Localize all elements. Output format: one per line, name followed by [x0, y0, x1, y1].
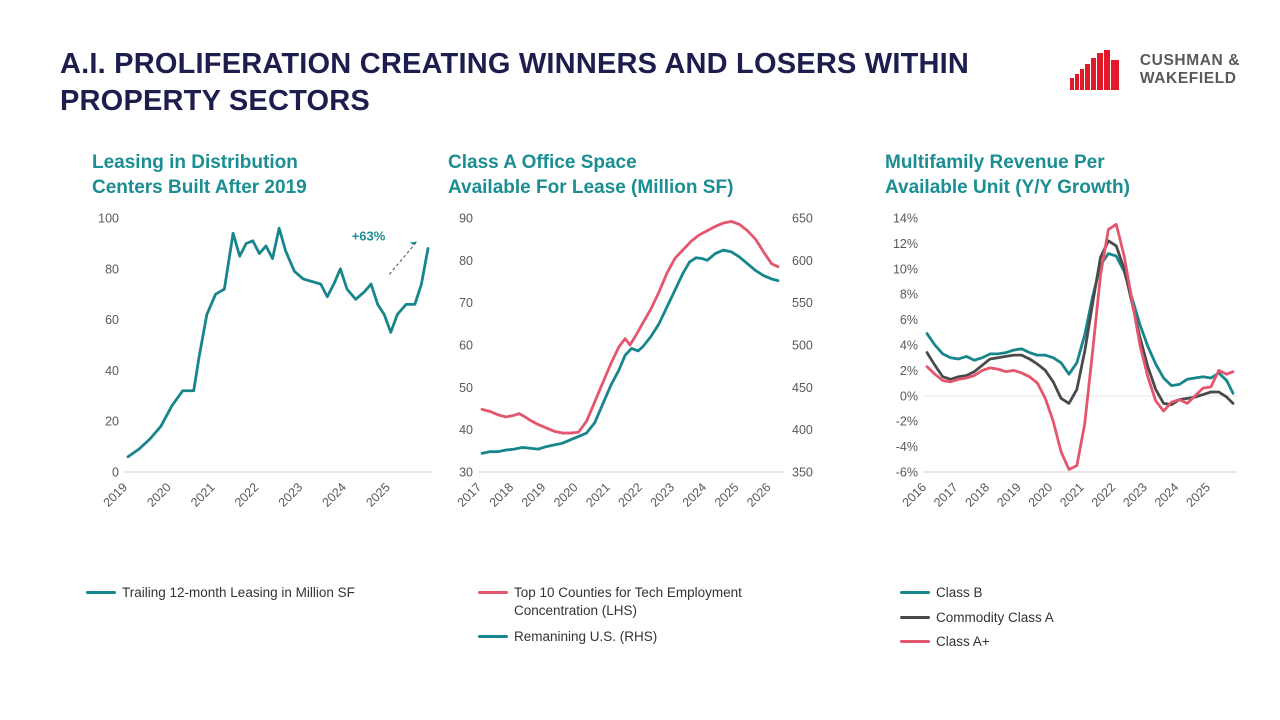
- x-tick-label: 2017: [455, 480, 485, 510]
- legend-color-swatch: [900, 640, 930, 643]
- y-tick-label: 40: [459, 423, 473, 437]
- x-tick-label: 2020: [1026, 480, 1056, 510]
- y2-tick-label: 650: [792, 212, 813, 226]
- x-tick-label: 2024: [320, 480, 350, 510]
- x-tick-label: 2022: [615, 480, 645, 510]
- y-tick-label: 60: [459, 339, 473, 353]
- page-title: A.I. Proliferation Creating Winners and …: [60, 46, 1010, 120]
- y-tick-label: 100: [98, 212, 119, 226]
- chart-panel-leasing-distribution-centers: Leasing in Distribution Centers Built Af…: [0, 150, 410, 540]
- x-tick-label: 2023: [1120, 480, 1150, 510]
- x-tick-label: 2024: [1152, 480, 1182, 510]
- y-tick-label: 4%: [900, 339, 918, 353]
- chart-legend-3: Class B Commodity Class A Class A+: [900, 584, 1054, 658]
- x-tick-label: 2018: [963, 480, 993, 510]
- x-tick-label: 2022: [1089, 480, 1119, 510]
- building-bars-icon: [1070, 50, 1128, 90]
- legend-color-swatch: [478, 591, 508, 594]
- x-tick-label: 2026: [744, 480, 774, 510]
- legend-item-label: Class B: [936, 584, 983, 602]
- legend-item-label: Remanining U.S. (RHS): [514, 628, 657, 646]
- y2-tick-label: 350: [792, 466, 813, 480]
- line-chart-multifamily: -6%-4%-2%0%2%4%6%8%10%12%14%201620172018…: [885, 210, 1255, 540]
- slide-header: A.I. Proliferation Creating Winners and …: [60, 46, 1240, 120]
- x-tick-label: 2023: [276, 480, 306, 510]
- legend-color-swatch: [86, 591, 116, 594]
- y-tick-label: 70: [459, 296, 473, 310]
- chart-panel-class-a-office: Class A Office Space Available For Lease…: [410, 150, 840, 540]
- x-tick-label: 2024: [680, 480, 710, 510]
- x-tick-label: 2019: [994, 480, 1024, 510]
- legend-color-swatch: [900, 591, 930, 594]
- legend-item: Class B: [900, 584, 1054, 602]
- x-tick-label: 2021: [583, 480, 613, 510]
- chart-legend-1: Trailing 12-month Leasing in Million SF: [86, 584, 355, 609]
- y-tick-label: 20: [105, 415, 119, 429]
- chart-title-2: Class A Office Space Available For Lease…: [448, 150, 840, 200]
- y2-tick-label: 550: [792, 296, 813, 310]
- y2-tick-label: 600: [792, 254, 813, 268]
- x-tick-label: 2025: [363, 480, 393, 510]
- y-tick-label: 6%: [900, 313, 918, 327]
- y-tick-label: 80: [105, 262, 119, 276]
- x-tick-label: 2022: [232, 480, 262, 510]
- growth-annotation-label: +63%: [352, 228, 386, 243]
- x-tick-label: 2025: [712, 480, 742, 510]
- y-tick-label: -2%: [896, 415, 918, 429]
- logo-wordmark: CUSHMAN & WAKEFIELD: [1140, 52, 1240, 89]
- chart-legend-2: Top 10 Counties for Tech Employment Conc…: [478, 584, 808, 653]
- x-tick-label: 2017: [931, 480, 961, 510]
- charts-row: Leasing in Distribution Centers Built Af…: [0, 150, 1280, 540]
- y2-tick-label: 400: [792, 423, 813, 437]
- chart-panel-multifamily: Multifamily Revenue Per Available Unit (…: [840, 150, 1280, 540]
- x-tick-label: 2021: [1057, 480, 1087, 510]
- legend-item-label: Commodity Class A: [936, 609, 1054, 627]
- y-tick-label: -4%: [896, 440, 918, 454]
- series-line: [128, 228, 428, 457]
- line-chart-leasing: 0204060801002019202020212022202320242025…: [92, 210, 432, 540]
- x-tick-label: 2021: [188, 480, 218, 510]
- legend-color-swatch: [900, 616, 930, 619]
- legend-color-swatch: [478, 635, 508, 638]
- y-tick-label: 80: [459, 254, 473, 268]
- y-tick-label: 8%: [900, 288, 918, 302]
- x-tick-label: 2023: [648, 480, 678, 510]
- cushman-wakefield-logo: CUSHMAN & WAKEFIELD: [1070, 50, 1240, 90]
- slide-root: A.I. Proliferation Creating Winners and …: [0, 0, 1280, 720]
- line-chart-office: 3040506070809035040045050055060065020172…: [448, 210, 828, 540]
- x-tick-label: 2018: [487, 480, 517, 510]
- y-tick-label: 90: [459, 212, 473, 226]
- legend-item-label: Top 10 Counties for Tech Employment Conc…: [514, 584, 804, 619]
- x-tick-label: 2016: [900, 480, 930, 510]
- y-tick-label: -6%: [896, 466, 918, 480]
- series-line: [482, 250, 778, 453]
- y-tick-label: 2%: [900, 364, 918, 378]
- chart-title-3: Multifamily Revenue Per Available Unit (…: [885, 150, 1280, 200]
- y-tick-label: 30: [459, 466, 473, 480]
- y-tick-label: 0: [112, 466, 119, 480]
- legend-item-label: Class A+: [936, 633, 990, 651]
- x-tick-label: 2020: [144, 480, 174, 510]
- legend-item: Commodity Class A: [900, 609, 1054, 627]
- y2-tick-label: 450: [792, 381, 813, 395]
- legend-item-label: Trailing 12-month Leasing in Million SF: [122, 584, 355, 602]
- legend-item: Remanining U.S. (RHS): [478, 628, 808, 646]
- y-tick-label: 10%: [893, 262, 918, 276]
- legend-item: Top 10 Counties for Tech Employment Conc…: [478, 584, 808, 619]
- y-tick-label: 0%: [900, 389, 918, 403]
- legend-item: Trailing 12-month Leasing in Million SF: [86, 584, 355, 602]
- x-tick-label: 2019: [101, 480, 131, 510]
- y-tick-label: 12%: [893, 237, 918, 251]
- chart-plot-3: -6%-4%-2%0%2%4%6%8%10%12%14%201620172018…: [885, 210, 1280, 540]
- x-tick-label: 2019: [519, 480, 549, 510]
- chart-plot-2: 3040506070809035040045050055060065020172…: [448, 210, 840, 540]
- y2-tick-label: 500: [792, 339, 813, 353]
- y-tick-label: 14%: [893, 212, 918, 226]
- chart-title-1: Leasing in Distribution Centers Built Af…: [92, 150, 410, 200]
- legend-item: Class A+: [900, 633, 1054, 651]
- chart-plot-1: 0204060801002019202020212022202320242025…: [92, 210, 410, 540]
- x-tick-label: 2020: [551, 480, 581, 510]
- y-tick-label: 40: [105, 364, 119, 378]
- x-tick-label: 2025: [1183, 480, 1213, 510]
- y-tick-label: 50: [459, 381, 473, 395]
- y-tick-label: 60: [105, 313, 119, 327]
